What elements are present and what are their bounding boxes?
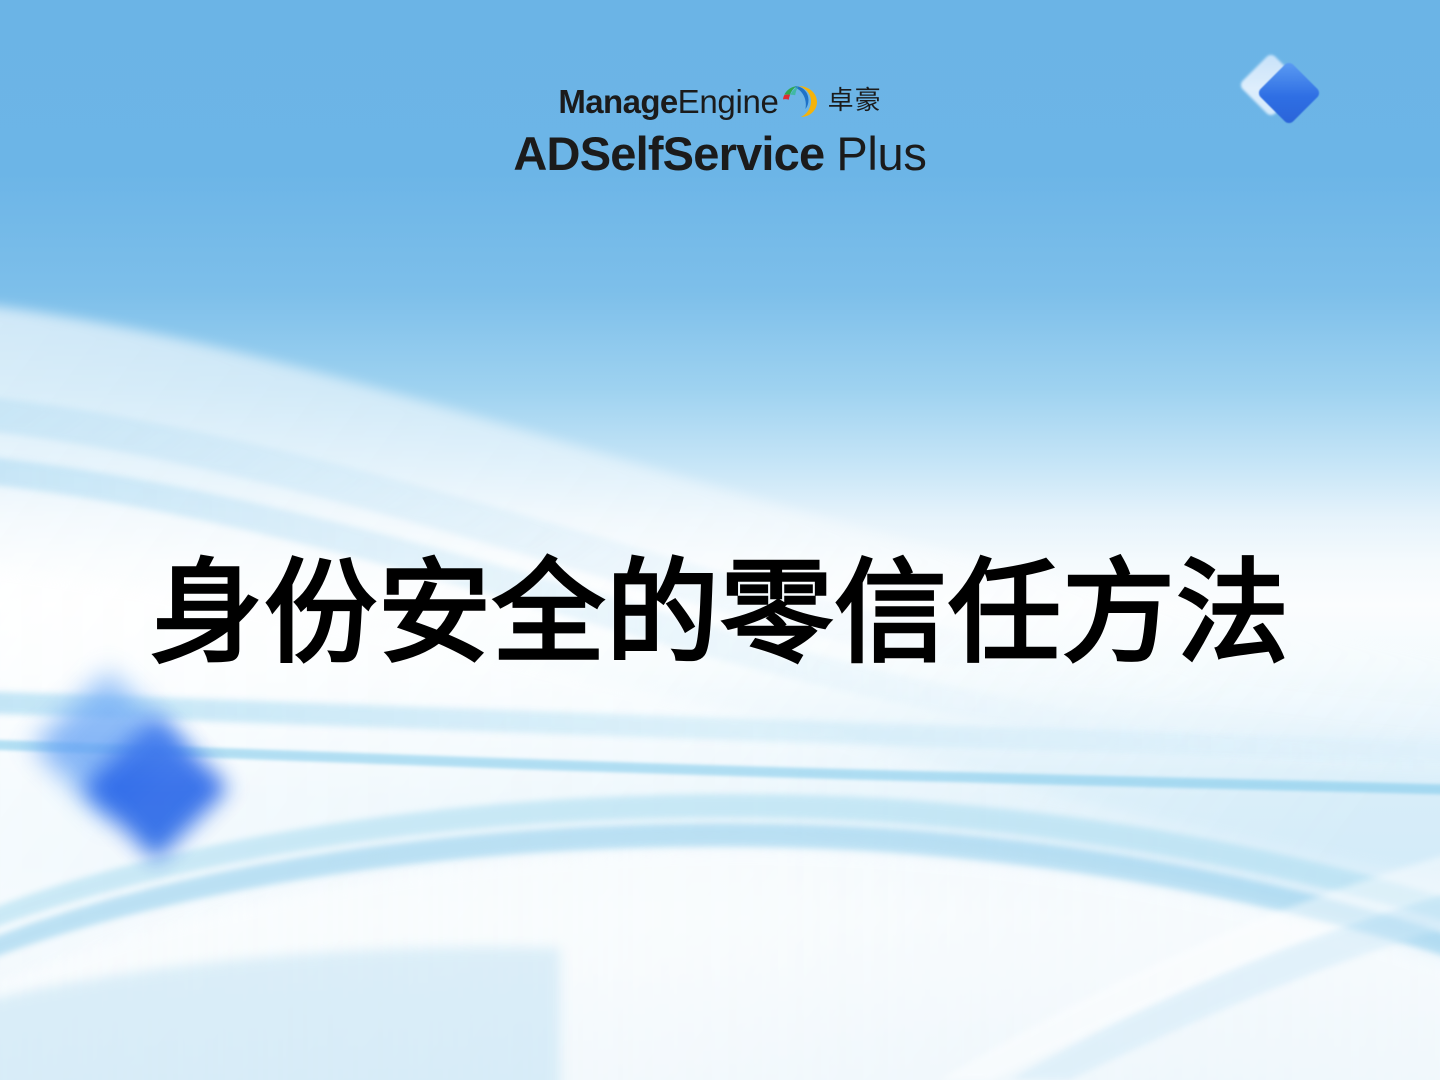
logo-lockup: ManageEngine 卓豪 ADSelfServicePlus — [0, 82, 1440, 177]
title-slide: ManageEngine 卓豪 ADSelfServicePlus — [0, 0, 1440, 1080]
manageengine-wordmark: ManageEngine 卓豪 — [558, 82, 881, 120]
brand-name-chinese: 卓豪 — [828, 88, 882, 114]
diamond-front-icon — [82, 714, 229, 861]
product-name-main: ADSelfService — [513, 127, 824, 180]
product-name-edition: Plus — [836, 127, 926, 180]
brand-name-regular: Engine — [678, 85, 779, 118]
diamond-decoration-bottom-left — [48, 688, 258, 888]
brand-name-bold: Manage — [558, 85, 677, 118]
product-name: ADSelfServicePlus — [0, 130, 1440, 177]
manageengine-swoosh-icon — [780, 82, 820, 120]
slide-headline: 身份安全的零信任方法 — [0, 554, 1440, 673]
diamond-back-icon — [32, 670, 185, 823]
